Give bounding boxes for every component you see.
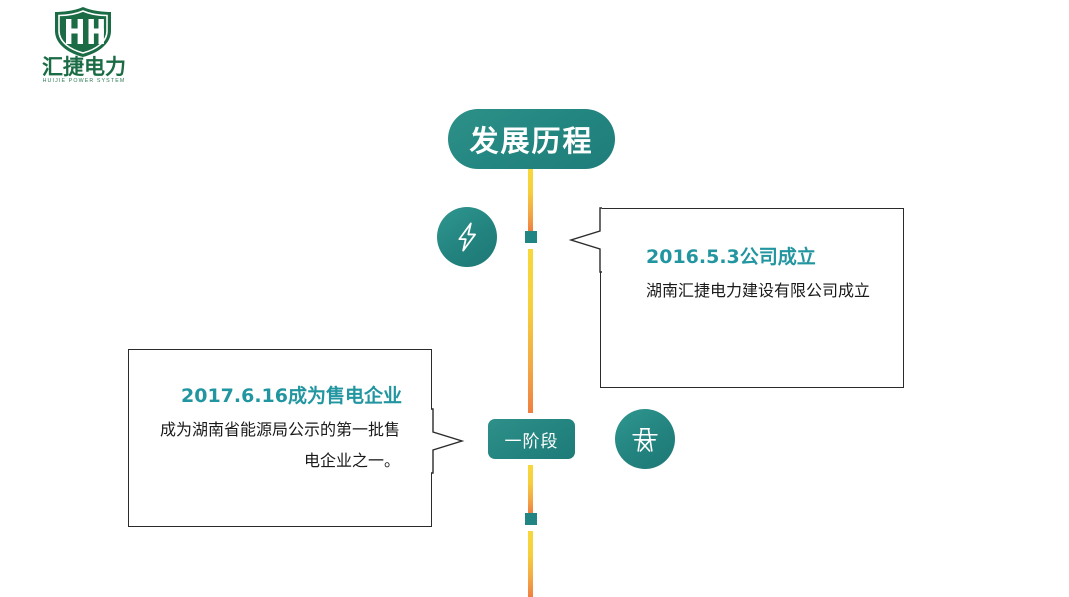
event-callout-2017: 2017.6.16成为售电企业 成为湖南省能源局公示的第一批售电企业之一。	[128, 349, 432, 527]
company-logo: 汇捷电力 HUIJIE POWER SYSTEM	[28, 4, 140, 88]
event-body: 成为湖南省能源局公示的第一批售电企业之一。	[146, 414, 400, 476]
timeline-segment	[528, 249, 533, 413]
event-callout-2016: 2016.5.3公司成立 湖南汇捷电力建设有限公司成立	[600, 208, 904, 388]
timeline-segment	[528, 531, 533, 597]
logo-brand-en: HUIJIE POWER SYSTEM	[27, 78, 141, 84]
slide-canvas: 汇捷电力 HUIJIE POWER SYSTEM 发展历程 一阶段	[0, 0, 1069, 597]
timeline-marker	[525, 231, 537, 243]
power-tower-icon	[615, 409, 675, 469]
page-title: 发展历程	[448, 109, 615, 169]
timeline-segment	[528, 465, 533, 513]
event-title: 2016.5.3公司成立	[646, 242, 816, 269]
lightning-bolt-icon	[437, 207, 497, 267]
timeline-marker	[525, 513, 537, 525]
event-title: 2017.6.16成为售电企业	[181, 381, 402, 408]
timeline-segment	[528, 169, 533, 231]
stage-chip: 一阶段	[488, 419, 575, 459]
event-body: 湖南汇捷电力建设有限公司成立	[646, 275, 871, 306]
shield-hh-monogram-icon	[50, 6, 116, 58]
logo-brand-cn: 汇捷电力	[28, 56, 140, 78]
